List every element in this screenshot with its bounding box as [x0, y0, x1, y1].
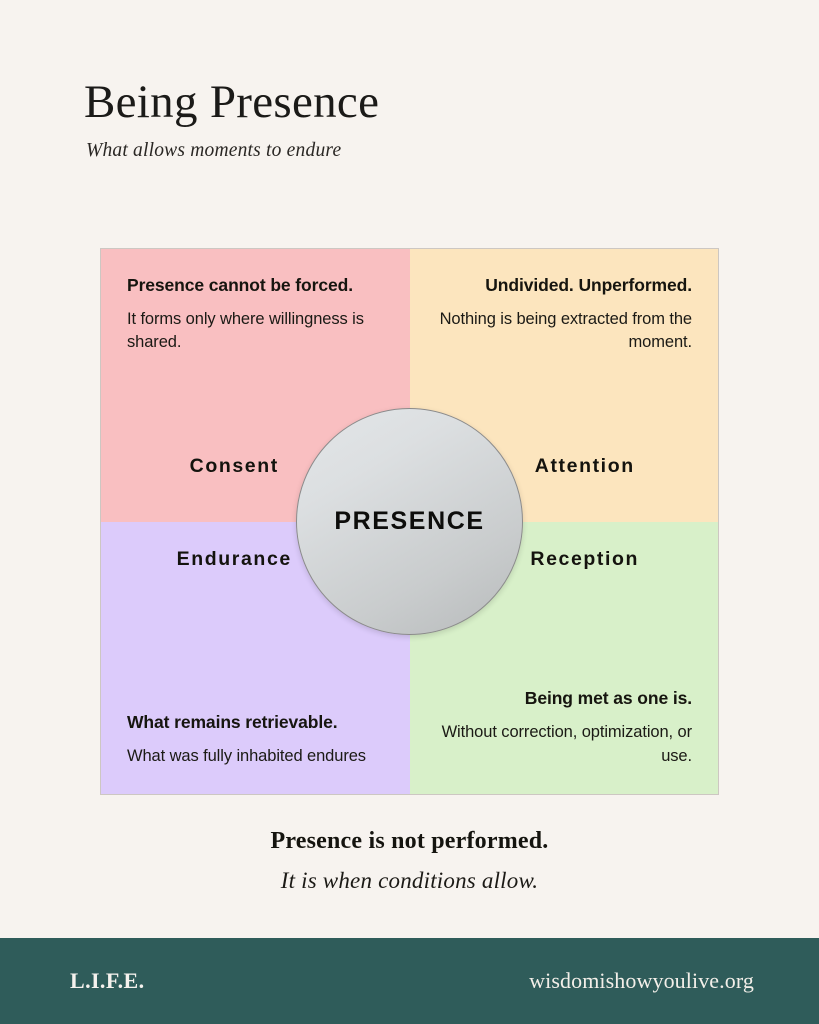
quadrant-reception-headline: Being met as one is.: [437, 688, 692, 710]
presence-hub-circle: PRESENCE: [296, 408, 523, 635]
quadrant-endurance-headline: What remains retrievable.: [127, 712, 366, 734]
quadrant-attention-body: Nothing is being extracted from the mome…: [437, 308, 692, 355]
quadrant-consent-label: Consent: [190, 455, 297, 478]
quadrant-consent-headline: Presence cannot be forced.: [127, 275, 382, 297]
quadrant-attention-text: Undivided. Unperformed. Nothing is being…: [437, 275, 692, 355]
page-title: Being Presence: [84, 78, 744, 128]
quadrant-reception-text: Being met as one is. Without correction,…: [437, 688, 692, 768]
quadrant-consent-body: It forms only where willingness is share…: [127, 308, 382, 355]
quadrant-endurance-text: What remains retrievable. What was fully…: [127, 712, 366, 768]
presence-hub-label: PRESENCE: [334, 507, 484, 536]
caption: Presence is not performed. It is when co…: [0, 828, 819, 894]
quadrant-consent-text: Presence cannot be forced. It forms only…: [127, 275, 382, 355]
quadrant-attention-headline: Undivided. Unperformed.: [437, 275, 692, 297]
quadrant-reception-label: Reception: [512, 548, 639, 571]
page-subtitle: What allows moments to endure: [86, 140, 744, 162]
quadrant-endurance-body: What was fully inhabited endures: [127, 745, 366, 768]
caption-main: Presence is not performed.: [0, 828, 819, 855]
header: Being Presence What allows moments to en…: [84, 78, 744, 162]
quadrant-reception-body: Without correction, optimization, or use…: [437, 721, 692, 768]
caption-sub: It is when conditions allow.: [0, 868, 819, 894]
footer-url[interactable]: wisdomishowyoulive.org: [529, 968, 754, 994]
quadrant-endurance-label: Endurance: [177, 548, 310, 571]
footer-bar: L.I.F.E. wisdomishowyoulive.org: [0, 938, 819, 1024]
footer-brand: L.I.F.E.: [70, 968, 145, 994]
quadrant-attention-label: Attention: [517, 455, 635, 478]
